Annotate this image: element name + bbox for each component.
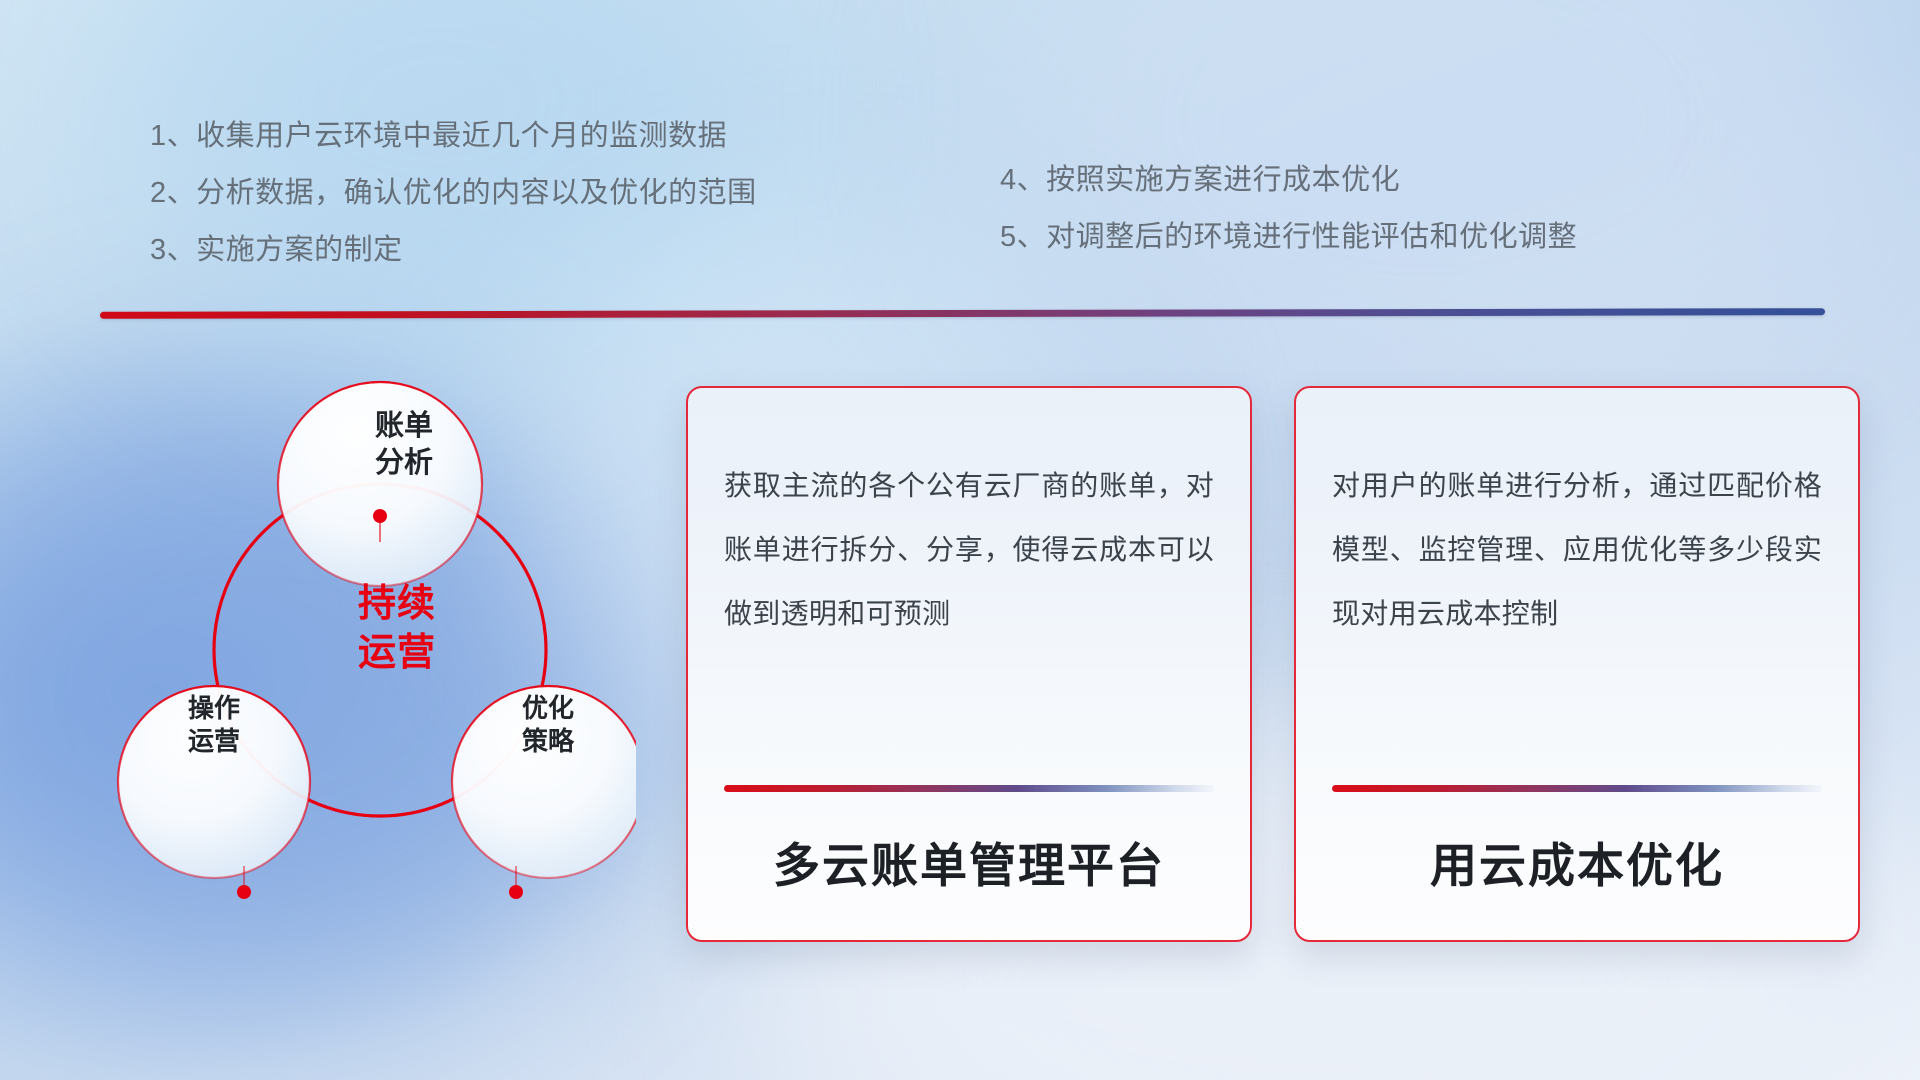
card-cloud-cost-optimization[interactable]: 对用户的账单进行分析，通过匹配价格模型、监控管理、应用优化等多少段实现对用云成本… <box>1294 386 1860 942</box>
steps-section: 1、收集用户云环境中最近几个月的监测数据 2、分析数据，确认优化的内容以及优化的… <box>0 108 1920 298</box>
step-item-3: 3、实施方案的制定 <box>150 222 757 279</box>
bubble-bill-analysis[interactable] <box>278 382 482 586</box>
step-item-5: 5、对调整后的环境进行性能评估和优化调整 <box>1000 209 1577 266</box>
steps-column-right: 4、按照实施方案进行成本优化 5、对调整后的环境进行性能评估和优化调整 <box>1000 152 1577 266</box>
step-item-1: 1、收集用户云环境中最近几个月的监测数据 <box>150 108 757 165</box>
card-divider <box>724 785 1214 792</box>
bubble-optimization-policy[interactable] <box>452 686 636 878</box>
bubble-operation-ops[interactable] <box>118 686 310 878</box>
slide-canvas: 1、收集用户云环境中最近几个月的监测数据 2、分析数据，确认优化的内容以及优化的… <box>0 0 1920 1080</box>
steps-column-left: 1、收集用户云环境中最近几个月的监测数据 2、分析数据，确认优化的内容以及优化的… <box>150 108 757 279</box>
continuous-operation-diagram: 账单 分析 操作 运营 优化 策略 持续 运营 <box>96 352 636 952</box>
card-body-text: 获取主流的各个公有云厂商的账单，对账单进行拆分、分享，使得云成本可以做到透明和可… <box>724 454 1214 646</box>
card-title-text: 用云成本优化 <box>1296 827 1858 896</box>
card-multi-cloud-billing-platform[interactable]: 获取主流的各个公有云厂商的账单，对账单进行拆分、分享，使得云成本可以做到透明和可… <box>686 386 1252 942</box>
section-divider-rule <box>100 308 1825 319</box>
step-item-4: 4、按照实施方案进行成本优化 <box>1000 152 1577 209</box>
venn-diagram-svg <box>96 352 636 952</box>
card-title-text: 多云账单管理平台 <box>688 827 1250 896</box>
card-divider <box>1332 785 1822 792</box>
step-item-2: 2、分析数据，确认优化的内容以及优化的范围 <box>150 165 757 222</box>
card-body-text: 对用户的账单进行分析，通过匹配价格模型、监控管理、应用优化等多少段实现对用云成本… <box>1332 454 1822 646</box>
